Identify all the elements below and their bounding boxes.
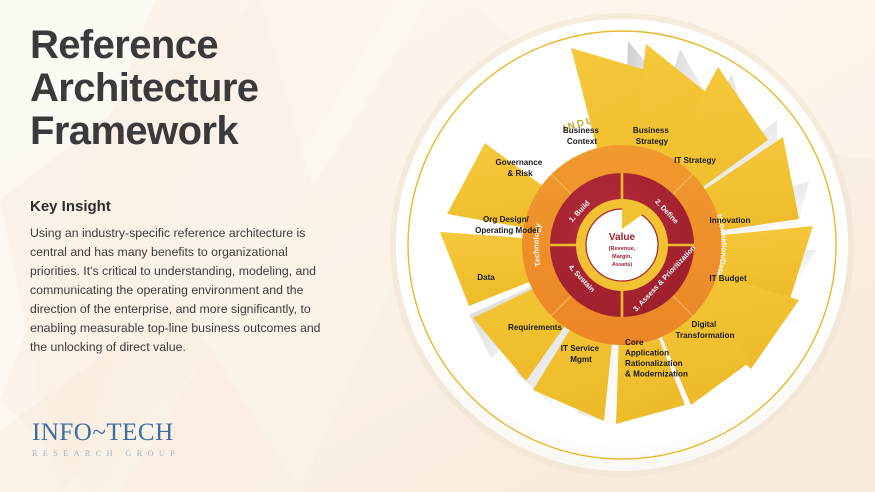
- logo-tagline: RESEARCH GROUP: [32, 449, 180, 458]
- petal-label-it-strategy: IT Strategy: [674, 156, 716, 165]
- key-insight-body: Using an industry-specific reference arc…: [30, 224, 330, 357]
- petal-label-requirements-l1: Requirements: [508, 323, 562, 332]
- petal-label-org-design-l1: Org Design/: [483, 215, 530, 224]
- key-insight-heading: Key Insight: [30, 198, 330, 215]
- petal-label-digital-transformation-l1: Digital: [692, 320, 717, 329]
- info-tech-logo: INFO~TECH RESEARCH GROUP: [32, 420, 180, 458]
- petal-label-business-context-l2: Context: [567, 137, 597, 146]
- reference-architecture-diagram: INDUSTRY CONTEXT: [385, 0, 875, 492]
- left-panel: Reference Architecture Framework: [30, 24, 360, 154]
- petal-label-digital-transformation-l2: Transformation: [676, 331, 735, 340]
- page-title-line-2: Architecture: [30, 67, 360, 110]
- petal-label-core-app-l4: & Modernization: [625, 370, 688, 379]
- petal-label-core-app-l3: Rationalization: [625, 359, 683, 368]
- key-insight-block: Key Insight Using an industry-specific r…: [30, 198, 330, 357]
- page-title-line-1: Reference: [30, 24, 360, 67]
- petal-label-governance-risk-l1: Governance: [495, 158, 542, 167]
- petal-label-org-design-l2: Operating Model: [475, 226, 539, 235]
- petal-label-data: Data: [477, 273, 495, 282]
- petal-label-requirements: Requirements: [508, 323, 562, 332]
- page-title: Reference Architecture Framework: [30, 24, 360, 154]
- petal-label-business-strategy-l2: Strategy: [636, 137, 669, 146]
- petal-label-it-service-mgmt-l1: IT Service: [561, 344, 600, 353]
- petal-label-core-app-l1: Core: [625, 338, 644, 347]
- petal-label-business-context-l1: Business: [563, 126, 599, 135]
- petal-label-business-strategy-l1: Business: [633, 126, 669, 135]
- page-title-line-3: Framework: [30, 110, 360, 153]
- center-value-sub-2: Margin,: [612, 254, 632, 260]
- logo-wordmark-text: INFO~TECH: [32, 419, 174, 446]
- petal-label-it-strategy-l1: IT Strategy: [674, 156, 716, 165]
- logo-wordmark: INFO~TECH: [32, 420, 180, 445]
- center-value-sub-1: (Revenue,: [609, 246, 636, 252]
- petal-label-governance-risk-l2: & Risk: [507, 169, 533, 178]
- center-value-sub-3: Assets): [612, 262, 632, 268]
- petal-label-it-budget-l1: IT Budget: [709, 274, 747, 283]
- petal-label-data-l1: Data: [477, 273, 495, 282]
- center-value-label: Value: [609, 232, 636, 243]
- petal-label-it-service-mgmt-l2: Mgmt: [570, 355, 592, 364]
- petal-label-core-app-l2: Application: [625, 349, 669, 358]
- petal-label-it-budget: IT Budget: [709, 274, 747, 283]
- petal-label-innovation: Innovation: [710, 216, 751, 225]
- petal-label-innovation-l1: Innovation: [710, 216, 751, 225]
